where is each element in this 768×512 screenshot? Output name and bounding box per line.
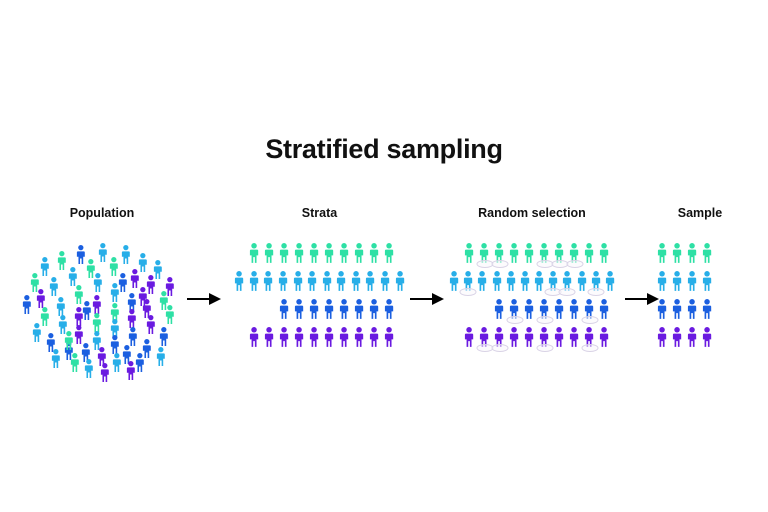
person-icon <box>84 359 94 378</box>
page-title: Stratified sampling <box>0 134 768 165</box>
panel-label-random-selection: Random selection <box>447 205 617 221</box>
person-icon <box>57 251 67 270</box>
person-slot <box>261 271 276 297</box>
stratum-row-cyan <box>232 271 407 299</box>
selection-ring <box>536 316 553 324</box>
person-icon <box>138 287 148 306</box>
person-icon <box>249 271 259 297</box>
person-icon <box>384 243 394 269</box>
person-icon <box>22 295 32 314</box>
person-icon <box>365 271 375 297</box>
population-body <box>22 243 182 375</box>
person-icon <box>278 271 288 297</box>
person-icon <box>121 245 131 264</box>
person-slot <box>447 271 461 297</box>
person-icon <box>51 349 61 368</box>
selection-ring <box>581 344 598 352</box>
person-slot <box>319 271 334 297</box>
person-icon <box>477 271 487 297</box>
person-icon <box>118 273 128 292</box>
person-icon <box>309 243 319 269</box>
panel-sample: Sample <box>655 205 745 355</box>
person-slot <box>582 243 597 269</box>
person-slot <box>685 327 700 353</box>
person-slot <box>367 327 382 353</box>
person-slot <box>352 243 367 269</box>
person-slot <box>532 271 546 297</box>
person-slot <box>277 243 292 269</box>
person-slot <box>655 299 670 325</box>
selection-ring <box>559 288 576 296</box>
person-slot <box>322 243 337 269</box>
stratum-row-purple <box>655 327 745 355</box>
stratum-row-blue <box>447 299 617 327</box>
person-icon <box>509 327 519 353</box>
person-slot <box>655 271 670 297</box>
person-icon <box>279 327 289 353</box>
person-icon <box>309 327 319 353</box>
person-slot <box>670 327 685 353</box>
person-icon <box>74 325 84 344</box>
population-cloud <box>22 243 182 375</box>
person-slot <box>552 243 567 269</box>
person-icon <box>369 327 379 353</box>
stratum-row-purple <box>232 327 407 355</box>
person-slot <box>477 327 492 353</box>
person-slot <box>475 271 489 297</box>
person-slot <box>603 271 617 297</box>
person-slot <box>537 243 552 269</box>
person-icon <box>324 299 334 325</box>
arrow-random-to-sample <box>625 289 659 309</box>
person-icon <box>687 271 697 297</box>
person-icon <box>156 347 166 366</box>
person-icon <box>577 271 587 297</box>
person-slot <box>597 327 612 353</box>
person-icon <box>92 295 102 314</box>
person-slot <box>292 299 307 325</box>
person-icon <box>599 243 609 269</box>
person-icon <box>249 327 259 353</box>
person-icon <box>165 305 175 324</box>
person-icon <box>264 243 274 269</box>
selection-ring <box>587 288 604 296</box>
person-icon <box>294 327 304 353</box>
person-icon <box>702 327 712 353</box>
person-icon <box>294 299 304 325</box>
person-slot <box>337 299 352 325</box>
person-icon <box>128 327 138 346</box>
stratum-row-blue <box>655 299 745 327</box>
person-icon <box>294 243 304 269</box>
person-icon <box>336 271 346 297</box>
person-slot <box>363 271 378 297</box>
person-slot <box>670 271 685 297</box>
person-slot <box>352 299 367 325</box>
sample-body <box>655 243 745 355</box>
person-icon <box>449 271 459 297</box>
person-icon <box>672 299 682 325</box>
person-icon <box>702 299 712 325</box>
panel-random-selection: Random selection <box>447 205 617 355</box>
random-selection-body <box>447 243 617 355</box>
person-slot <box>504 271 518 297</box>
person-icon <box>351 271 361 297</box>
person-slot <box>492 243 507 269</box>
person-icon <box>702 271 712 297</box>
person-slot <box>552 299 567 325</box>
person-icon <box>127 309 137 328</box>
person-slot <box>292 243 307 269</box>
person-icon <box>56 297 66 316</box>
stratum-row-green <box>447 243 617 271</box>
person-slot <box>700 243 715 269</box>
person-slot <box>262 327 277 353</box>
person-icon <box>100 363 110 382</box>
person-slot <box>700 271 715 297</box>
person-slot <box>575 271 589 297</box>
person-slot <box>655 327 670 353</box>
person-slot <box>277 327 292 353</box>
person-slot <box>492 327 507 353</box>
person-slot <box>290 271 305 297</box>
person-icon <box>32 323 42 342</box>
person-slot <box>367 299 382 325</box>
person-slot <box>349 271 364 297</box>
person-slot <box>292 327 307 353</box>
person-icon <box>494 299 504 325</box>
person-icon <box>687 327 697 353</box>
person-icon <box>657 327 667 353</box>
person-slot <box>700 327 715 353</box>
strata-body <box>232 243 407 355</box>
person-icon <box>93 273 103 292</box>
person-slot <box>507 299 522 325</box>
person-icon <box>279 299 289 325</box>
person-slot <box>507 327 522 353</box>
person-icon <box>307 271 317 297</box>
person-slot <box>582 327 597 353</box>
person-slot <box>232 271 247 297</box>
person-icon <box>492 271 502 297</box>
person-icon <box>657 299 667 325</box>
person-slot <box>461 271 475 297</box>
person-icon <box>354 327 364 353</box>
person-slot <box>307 327 322 353</box>
person-slot <box>685 271 700 297</box>
person-slot <box>685 243 700 269</box>
person-slot <box>522 327 537 353</box>
person-icon <box>279 243 289 269</box>
person-slot <box>352 327 367 353</box>
person-slot <box>700 299 715 325</box>
person-slot <box>462 243 477 269</box>
person-icon <box>324 327 334 353</box>
person-slot <box>582 299 597 325</box>
person-icon <box>110 335 120 354</box>
person-icon <box>380 271 390 297</box>
person-slot <box>382 327 397 353</box>
person-icon <box>687 299 697 325</box>
person-icon <box>76 245 86 264</box>
person-icon <box>657 243 667 269</box>
person-icon <box>82 301 92 320</box>
arrow-strata-to-random <box>410 289 444 309</box>
selection-ring <box>491 260 508 268</box>
person-slot <box>597 243 612 269</box>
strata-rows <box>232 243 407 355</box>
person-icon <box>92 313 102 332</box>
person-icon <box>384 299 394 325</box>
panel-label-sample: Sample <box>655 205 745 221</box>
person-icon <box>520 271 530 297</box>
person-slot <box>262 243 277 269</box>
person-icon <box>605 271 615 297</box>
person-slot <box>382 243 397 269</box>
person-icon <box>159 327 169 346</box>
person-icon <box>324 243 334 269</box>
person-slot <box>462 327 477 353</box>
person-slot <box>322 327 337 353</box>
person-icon <box>249 243 259 269</box>
person-icon <box>584 243 594 269</box>
person-slot <box>518 271 532 297</box>
person-slot <box>477 243 492 269</box>
person-icon <box>702 243 712 269</box>
person-slot <box>670 299 685 325</box>
person-slot <box>247 243 262 269</box>
person-slot <box>655 243 670 269</box>
person-slot <box>670 243 685 269</box>
person-icon <box>339 299 349 325</box>
person-slot <box>307 243 322 269</box>
person-slot <box>337 327 352 353</box>
person-slot <box>367 243 382 269</box>
person-icon <box>524 327 534 353</box>
random-selection-rows <box>447 243 617 355</box>
panel-label-strata: Strata <box>232 205 407 221</box>
person-icon <box>234 271 244 297</box>
person-slot <box>305 271 320 297</box>
person-icon <box>369 299 379 325</box>
person-slot <box>490 271 504 297</box>
selection-ring <box>506 316 523 324</box>
selection-ring <box>581 316 598 324</box>
person-icon <box>126 361 136 380</box>
person-slot <box>322 299 337 325</box>
person-slot <box>567 243 582 269</box>
stratum-row-cyan <box>655 271 745 299</box>
person-icon <box>339 243 349 269</box>
person-icon <box>309 299 319 325</box>
selection-ring <box>536 344 553 352</box>
person-icon <box>672 271 682 297</box>
person-icon <box>554 299 564 325</box>
person-icon <box>64 331 74 350</box>
person-slot <box>337 243 352 269</box>
person-slot <box>567 327 582 353</box>
person-slot <box>492 299 507 325</box>
person-icon <box>40 257 50 276</box>
stratum-row-blue <box>232 299 407 327</box>
person-icon <box>322 271 332 297</box>
person-icon <box>657 271 667 297</box>
person-icon <box>384 327 394 353</box>
stratum-row-green <box>655 243 745 271</box>
selection-ring <box>491 344 508 352</box>
panel-strata: Strata <box>232 205 407 355</box>
person-icon <box>264 327 274 353</box>
person-icon <box>49 277 59 296</box>
person-icon <box>554 327 564 353</box>
person-icon <box>599 299 609 325</box>
person-icon <box>369 243 379 269</box>
person-icon <box>509 243 519 269</box>
person-icon <box>135 353 145 372</box>
person-icon <box>354 243 364 269</box>
person-icon <box>464 327 474 353</box>
person-slot <box>522 243 537 269</box>
stratum-row-purple <box>447 327 617 355</box>
panel-label-population: Population <box>22 205 182 221</box>
person-icon <box>146 315 156 334</box>
person-icon <box>464 243 474 269</box>
selection-ring <box>566 260 583 268</box>
sample-rows <box>655 243 745 355</box>
person-slot <box>522 299 537 325</box>
person-slot <box>597 299 612 325</box>
person-icon <box>293 271 303 297</box>
person-slot <box>307 299 322 325</box>
person-slot <box>589 271 603 297</box>
person-icon <box>506 271 516 297</box>
stratum-row-cyan <box>447 271 617 299</box>
stratum-row-green <box>232 243 407 271</box>
selection-ring <box>460 288 477 296</box>
person-icon <box>672 327 682 353</box>
person-slot <box>276 271 291 297</box>
stratified-sampling-diagram: Population Strata Random selection <box>0 205 768 385</box>
person-icon <box>112 353 122 372</box>
person-slot <box>247 327 262 353</box>
person-slot <box>378 271 393 297</box>
person-slot <box>392 271 407 297</box>
person-icon <box>672 243 682 269</box>
person-icon <box>339 327 349 353</box>
person-icon <box>98 243 108 262</box>
person-icon <box>70 353 80 372</box>
person-icon <box>569 299 579 325</box>
person-icon <box>354 299 364 325</box>
person-slot <box>560 271 574 297</box>
person-icon <box>534 271 544 297</box>
person-icon <box>599 327 609 353</box>
person-slot <box>546 271 560 297</box>
person-icon <box>524 299 534 325</box>
arrow-population-to-strata <box>187 289 221 309</box>
person-slot <box>537 327 552 353</box>
person-slot <box>277 299 292 325</box>
person-slot <box>552 327 567 353</box>
person-icon <box>687 243 697 269</box>
person-icon <box>263 271 273 297</box>
person-slot <box>334 271 349 297</box>
person-slot <box>685 299 700 325</box>
person-icon <box>569 327 579 353</box>
person-icon <box>130 269 140 288</box>
panel-population: Population <box>22 205 182 375</box>
person-icon <box>395 271 405 297</box>
person-slot <box>382 299 397 325</box>
person-slot <box>247 271 262 297</box>
person-slot <box>507 243 522 269</box>
person-slot <box>567 299 582 325</box>
person-icon <box>524 243 534 269</box>
person-icon <box>36 289 46 308</box>
person-icon <box>68 267 78 286</box>
person-slot <box>537 299 552 325</box>
